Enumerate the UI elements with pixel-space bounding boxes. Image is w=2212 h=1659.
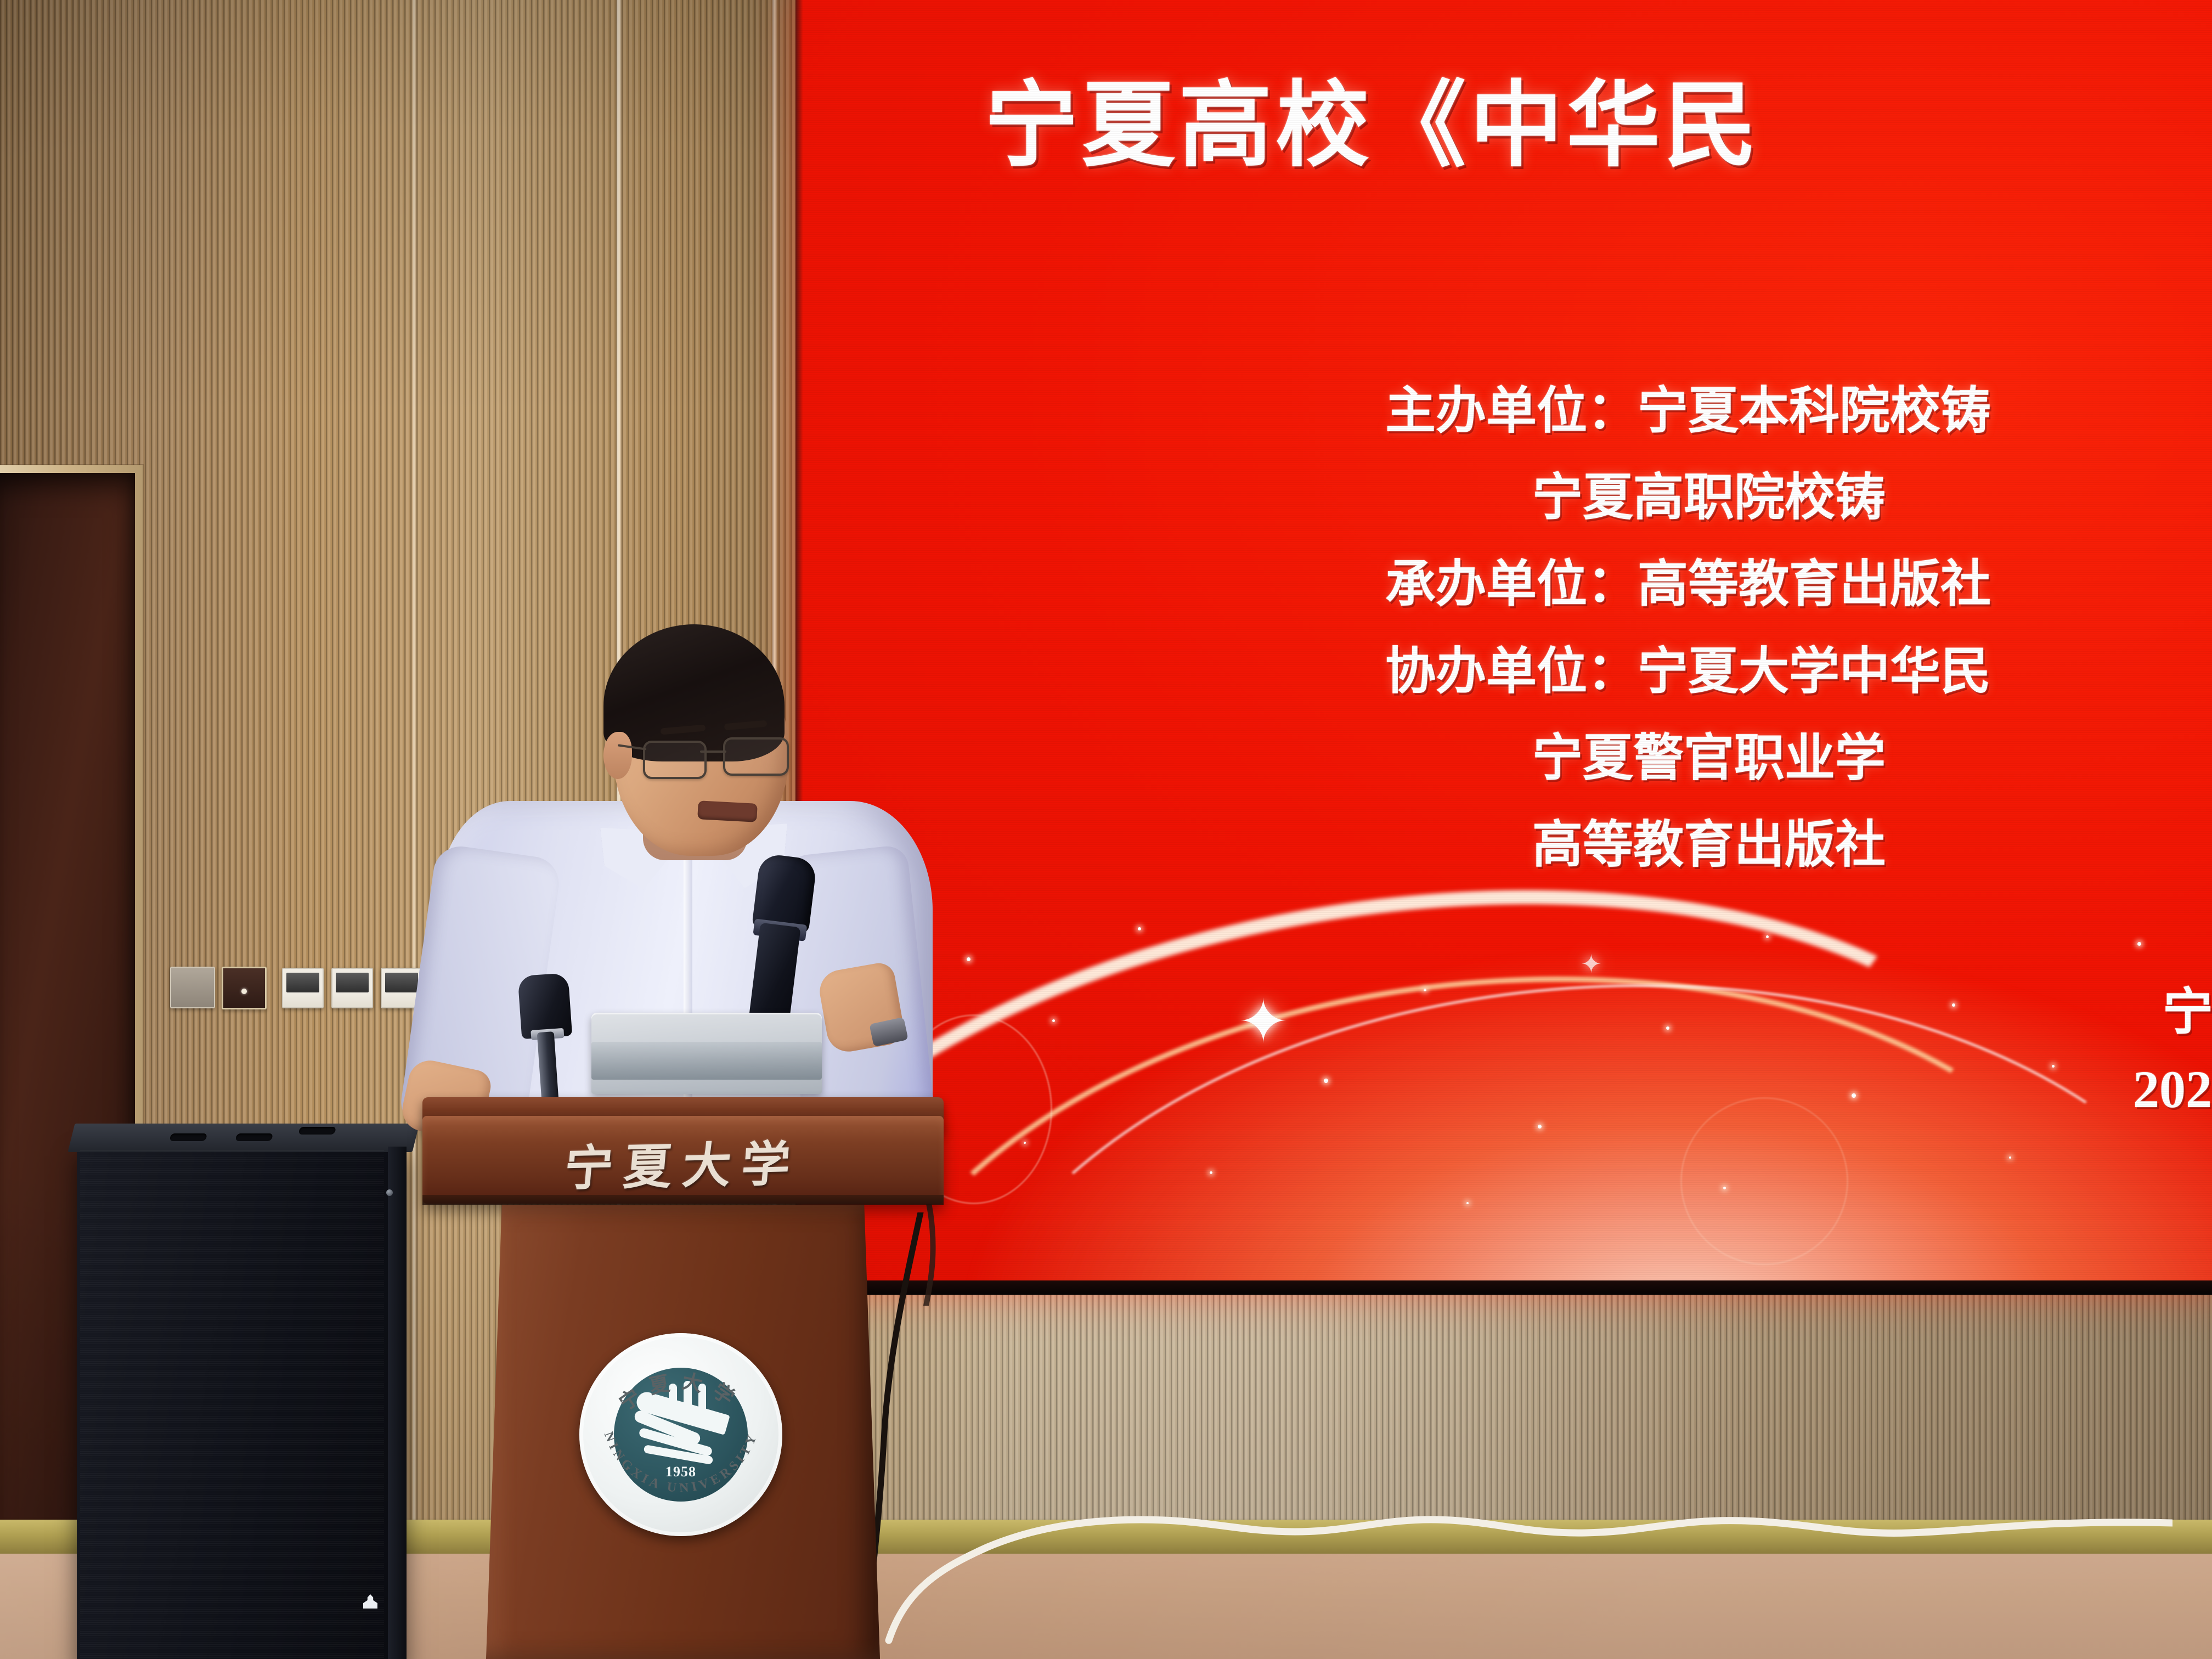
photo-scene: ✦ ✦ ✦ 宁夏高校《中华民 主办单位：宁夏本科院校铸 宁夏 (0, 0, 2212, 1659)
emblem-ring-text: 宁夏大学 NINGXIA UNIVERSITY (579, 1333, 782, 1536)
loudspeaker-grille (80, 1150, 384, 1659)
white-wall-panel-1[interactable] (282, 968, 324, 1008)
lectern-podium: 宁夏大学 1958 宁夏大学 (422, 1097, 944, 1659)
podium-front-text: 宁夏大学 (419, 1124, 947, 1200)
gooseneck-microphone[interactable] (517, 973, 577, 1113)
wall-seam-2 (413, 0, 417, 1659)
lens-right (723, 737, 789, 776)
laptop-lid (591, 1013, 822, 1094)
panel-window (286, 973, 320, 992)
panel-window (336, 973, 369, 992)
presenter-ear (603, 732, 632, 779)
university-emblem: 1958 宁夏大学 NINGXIA UNIVERSITY (579, 1333, 782, 1536)
loudspeaker-handle-slot (235, 1133, 273, 1141)
lens-left (643, 741, 707, 779)
blank-grey-plate[interactable] (170, 967, 215, 1008)
presenter-mouth (697, 800, 758, 822)
loudspeaker-handle-slot (298, 1127, 336, 1135)
dark-recessed-outlet-plate[interactable] (222, 967, 267, 1009)
loudspeaker-top (68, 1124, 420, 1152)
screen-bottom-bezel (795, 1280, 2212, 1295)
led-display-screen: ✦ ✦ ✦ 宁夏高校《中华民 主办单位：宁夏本科院校铸 宁夏 (795, 0, 2212, 1295)
loudspeaker-cabinet (77, 1147, 406, 1659)
svg-text:NINGXIA UNIVERSITY: NINGXIA UNIVERSITY (601, 1430, 761, 1495)
loudspeaker-handle-slot (170, 1133, 207, 1141)
eyeglasses (643, 736, 790, 780)
glasses-bridge (700, 751, 726, 753)
podium-shadow-reveal (422, 1195, 944, 1205)
loudspeaker-screw (386, 1189, 393, 1196)
svg-text:宁夏大学: 宁夏大学 (615, 1370, 747, 1415)
white-wall-panel-2[interactable] (331, 968, 373, 1008)
laptop-lid-shade (591, 1042, 822, 1079)
loudspeaker-side-panel (388, 1147, 407, 1659)
screen-moire-texture (795, 0, 2212, 1295)
panel-window (385, 973, 419, 992)
